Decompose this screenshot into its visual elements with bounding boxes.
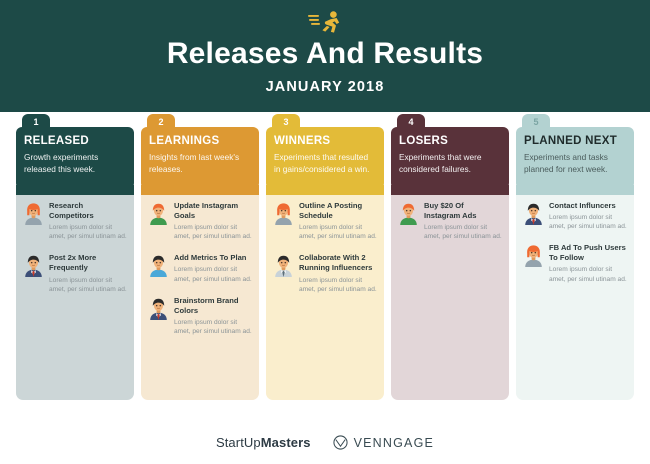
column-body: Buy $20 Of Instagram Ads Lorem ipsum dol…	[391, 188, 509, 400]
column-title: RELEASED	[24, 135, 126, 148]
columns-container: 1 RELEASED Growth experiments released t…	[16, 114, 634, 400]
column-number-tab: 3	[272, 114, 300, 129]
footer: StartUpMasters VENNGAGE	[0, 435, 650, 450]
column-description: Experiments that were considered failure…	[399, 152, 501, 175]
list-item[interactable]: Collaborate With 2 Running Influencers L…	[273, 253, 377, 293]
list-item-text: FB Ad To Push Users To Follow Lorem ipsu…	[549, 243, 627, 283]
brand-name-bold: Masters	[261, 435, 311, 450]
list-item-description: Lorem ipsum dolor sit amet, per simul ut…	[174, 223, 252, 241]
column-number: 1	[33, 117, 38, 127]
list-item[interactable]: Contact Influncers Lorem ipsum dolor sit…	[523, 201, 627, 231]
list-item-description: Lorem ipsum dolor sit amet, per simul ut…	[424, 223, 502, 241]
list-item-text: Contact Influncers Lorem ipsum dolor sit…	[549, 201, 627, 231]
avatar-man-suit-red-tie	[523, 202, 544, 225]
column-header: PLANNED NEXT Experiments and tasks plann…	[516, 127, 634, 189]
column-number-tab: 1	[22, 114, 50, 129]
avatar-man-suit-red-tie	[23, 254, 44, 277]
column-description: Growth experiments released this week.	[24, 152, 126, 175]
avatar-man-dark-hair-blue-shirt	[148, 254, 169, 277]
list-item-title: Research Competitors	[49, 201, 127, 221]
column-number: 5	[533, 117, 538, 127]
list-item-description: Lorem ipsum dolor sit amet, per simul ut…	[549, 265, 627, 283]
list-item-text: Buy $20 Of Instagram Ads Lorem ipsum dol…	[424, 201, 502, 241]
column-released: 1 RELEASED Growth experiments released t…	[16, 114, 134, 400]
list-item[interactable]: Brainstorm Brand Colors Lorem ipsum dolo…	[148, 296, 252, 336]
avatar-man-suit-red-tie	[148, 297, 169, 320]
list-item-text: Update Instagram Goals Lorem ipsum dolor…	[174, 201, 252, 241]
column-header: LEARNINGS Insights from last week's rele…	[141, 127, 259, 189]
list-item-text: Brainstorm Brand Colors Lorem ipsum dolo…	[174, 296, 252, 336]
list-item-description: Lorem ipsum dolor sit amet, per simul ut…	[549, 213, 627, 231]
column-number: 3	[283, 117, 288, 127]
list-item-text: Add Metrics To Plan Lorem ipsum dolor si…	[174, 253, 252, 283]
list-item-description: Lorem ipsum dolor sit amet, per simul ut…	[299, 223, 377, 241]
column-losers: 4 LOSERS Experiments that were considere…	[391, 114, 509, 400]
column-header: RELEASED Growth experiments released thi…	[16, 127, 134, 189]
avatar-man-orange-hair-green-shirt	[398, 202, 419, 225]
list-item-title: Contact Influncers	[549, 201, 627, 211]
list-item-text: Outline A Posting Schedule Lorem ipsum d…	[299, 201, 377, 241]
column-body: Contact Influncers Lorem ipsum dolor sit…	[516, 188, 634, 400]
column-description: Insights from last week's releases.	[149, 152, 251, 175]
column-number: 4	[408, 117, 413, 127]
brand-logo: StartUpMasters	[216, 435, 311, 450]
column-number-tab: 2	[147, 114, 175, 129]
avatar-woman-orange-hair	[23, 202, 44, 225]
list-item-title: Add Metrics To Plan	[174, 253, 252, 263]
page-subtitle: JANUARY 2018	[266, 79, 385, 95]
list-item-description: Lorem ipsum dolor sit amet, per simul ut…	[174, 265, 252, 283]
column-number: 2	[158, 117, 163, 127]
brand-name-light: StartUp	[216, 435, 261, 450]
list-item-title: Brainstorm Brand Colors	[174, 296, 252, 316]
avatar-man-dark-hair-shirt-tie	[273, 254, 294, 277]
page-title: Releases And Results	[167, 38, 483, 70]
list-item[interactable]: FB Ad To Push Users To Follow Lorem ipsu…	[523, 243, 627, 283]
column-number-tab: 5	[522, 114, 550, 129]
venngage-credit[interactable]: VENNGAGE	[333, 435, 434, 450]
list-item-title: Update Instagram Goals	[174, 201, 252, 221]
column-header: LOSERS Experiments that were considered …	[391, 127, 509, 189]
venngage-label: VENNGAGE	[354, 436, 434, 450]
list-item-description: Lorem ipsum dolor sit amet, per simul ut…	[299, 276, 377, 294]
list-item[interactable]: Outline A Posting Schedule Lorem ipsum d…	[273, 201, 377, 241]
column-planned-next: 5 PLANNED NEXT Experiments and tasks pla…	[516, 114, 634, 400]
list-item[interactable]: Update Instagram Goals Lorem ipsum dolor…	[148, 201, 252, 241]
list-item-title: Post 2x More Frequently	[49, 253, 127, 273]
list-item-description: Lorem ipsum dolor sit amet, per simul ut…	[49, 276, 127, 294]
list-item-title: Collaborate With 2 Running Influencers	[299, 253, 377, 273]
venngage-logo-icon	[333, 435, 348, 450]
list-item[interactable]: Post 2x More Frequently Lorem ipsum dolo…	[23, 253, 127, 293]
column-body: Update Instagram Goals Lorem ipsum dolor…	[141, 188, 259, 400]
list-item-title: FB Ad To Push Users To Follow	[549, 243, 627, 263]
column-number-tab: 4	[397, 114, 425, 129]
column-learnings: 2 LEARNINGS Insights from last week's re…	[141, 114, 259, 400]
infographic-poster: Releases And Results JANUARY 2018 1 RELE…	[0, 0, 650, 464]
list-item-description: Lorem ipsum dolor sit amet, per simul ut…	[49, 223, 127, 241]
column-title: PLANNED NEXT	[524, 135, 626, 148]
column-title: WINNERS	[274, 135, 376, 148]
column-header: WINNERS Experiments that resulted in gai…	[266, 127, 384, 189]
column-title: LOSERS	[399, 135, 501, 148]
column-winners: 3 WINNERS Experiments that resulted in g…	[266, 114, 384, 400]
column-description: Experiments and tasks planned for next w…	[524, 152, 626, 175]
list-item-text: Research Competitors Lorem ipsum dolor s…	[49, 201, 127, 241]
list-item-title: Buy $20 Of Instagram Ads	[424, 201, 502, 221]
running-person-icon	[308, 10, 342, 36]
avatar-woman-orange-hair	[523, 244, 544, 267]
column-title: LEARNINGS	[149, 135, 251, 148]
column-body: Outline A Posting Schedule Lorem ipsum d…	[266, 188, 384, 400]
list-item-text: Collaborate With 2 Running Influencers L…	[299, 253, 377, 293]
column-description: Experiments that resulted in gains/consi…	[274, 152, 376, 175]
list-item[interactable]: Research Competitors Lorem ipsum dolor s…	[23, 201, 127, 241]
list-item-title: Outline A Posting Schedule	[299, 201, 377, 221]
list-item[interactable]: Add Metrics To Plan Lorem ipsum dolor si…	[148, 253, 252, 283]
list-item-description: Lorem ipsum dolor sit amet, per simul ut…	[174, 318, 252, 336]
list-item-text: Post 2x More Frequently Lorem ipsum dolo…	[49, 253, 127, 293]
avatar-woman-orange-hair	[273, 202, 294, 225]
list-item[interactable]: Buy $20 Of Instagram Ads Lorem ipsum dol…	[398, 201, 502, 241]
column-body: Research Competitors Lorem ipsum dolor s…	[16, 188, 134, 400]
header-banner: Releases And Results JANUARY 2018	[0, 0, 650, 112]
avatar-man-orange-hair-green-shirt	[148, 202, 169, 225]
